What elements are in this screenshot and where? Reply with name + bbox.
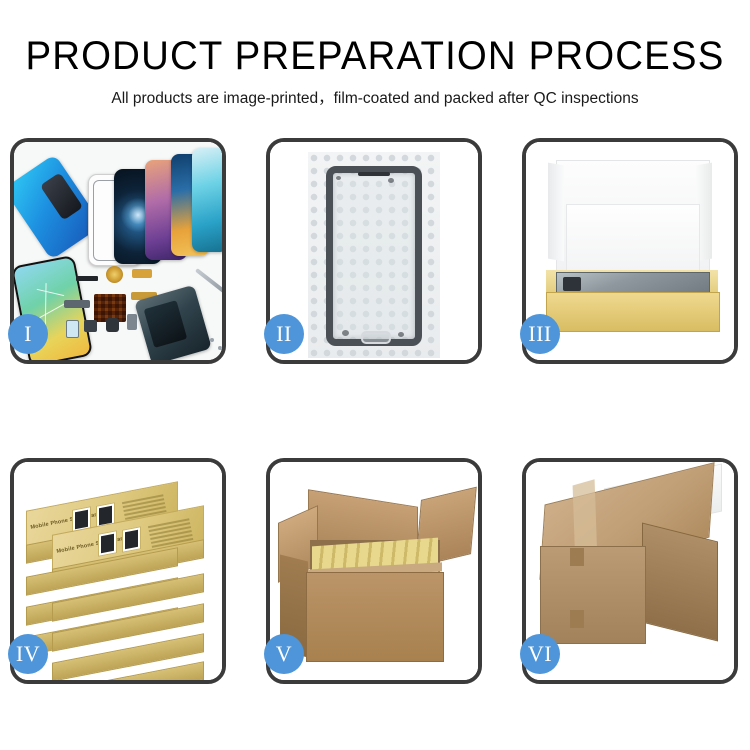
process-row-2: Mobile Phone Spare Parts Mobile Phone Sp…: [10, 458, 740, 684]
process-step-3[interactable]: III: [522, 138, 738, 364]
process-step-4[interactable]: Mobile Phone Spare Parts Mobile Phone Sp…: [10, 458, 226, 684]
phone-teal: [192, 148, 222, 252]
carton-tab-upper: [570, 548, 584, 566]
step-badge-4: IV: [8, 634, 48, 674]
box-window-b1: [98, 530, 117, 557]
glass-speck-4: [398, 332, 404, 337]
carton-front-face: [540, 546, 646, 644]
screw-1: [210, 338, 214, 342]
box-tray-front: [546, 292, 720, 332]
flex-cable-c: [64, 300, 90, 308]
box-lid-flap-left: [548, 163, 564, 262]
header: PRODUCT PREPARATION PROCESS All products…: [0, 0, 750, 108]
screw-2: [218, 346, 222, 350]
step-badge-3: III: [520, 314, 560, 354]
carton-front-face: [306, 572, 444, 662]
glass-speck-3: [342, 330, 349, 336]
step-badge-5: V: [264, 634, 304, 674]
glass-speck-2: [388, 178, 394, 183]
page-subtitle: All products are image-printed，film-coat…: [0, 90, 750, 108]
step-badge-1: I: [8, 314, 48, 354]
small-part-1: [66, 320, 79, 338]
process-step-1[interactable]: I: [10, 138, 226, 364]
process-step-2[interactable]: II: [266, 138, 482, 364]
glass-speck-1: [336, 176, 341, 180]
step-badge-2: II: [264, 314, 304, 354]
process-step-5[interactable]: V: [266, 458, 482, 684]
carton-tab-lower: [570, 610, 584, 628]
box-window-b2: [122, 526, 141, 553]
process-row-1: I II: [10, 138, 740, 364]
step-badge-6: VI: [520, 634, 560, 674]
tweezers-tool: [195, 268, 222, 296]
copper-coil-part: [106, 266, 123, 283]
small-part-4: [127, 314, 137, 330]
phone-glass-screen: [326, 166, 422, 346]
flex-cable-a: [132, 269, 152, 278]
foam-padding: [566, 204, 700, 272]
process-step-grid: I II: [10, 138, 740, 684]
carton-right-face: [642, 523, 718, 642]
small-part-2: [84, 320, 97, 332]
product-preparation-infographic: PRODUCT PREPARATION PROCESS All products…: [0, 0, 750, 750]
small-part-3: [106, 318, 119, 332]
process-step-6[interactable]: VI: [522, 458, 738, 684]
page-title: PRODUCT PREPARATION PROCESS: [15, 36, 735, 76]
speaker-bar-part: [76, 276, 98, 281]
